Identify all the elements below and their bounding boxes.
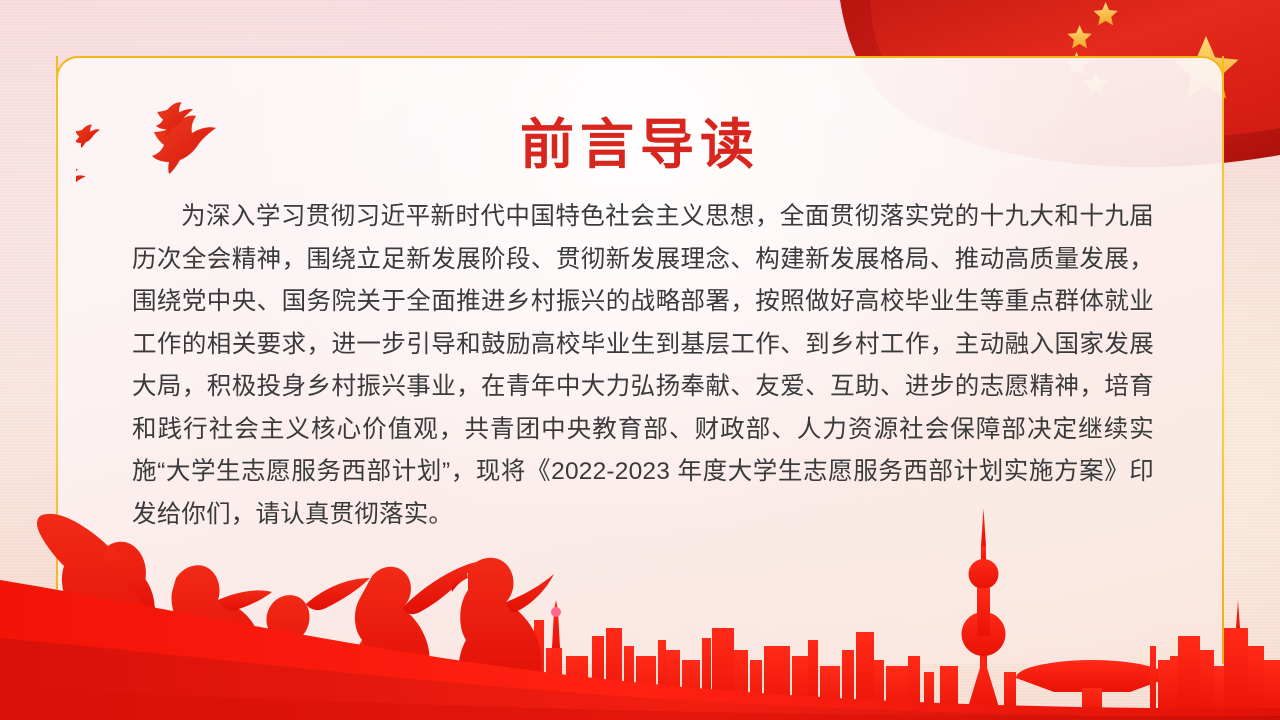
page-title: 前言导读: [0, 100, 1280, 179]
slide-root: 前言导读 为深入学习贯彻习近平新时代中国特色社会主义思想，全面贯彻落实党的十九大…: [0, 0, 1280, 720]
oriental-pearl-tower: [962, 508, 1006, 720]
bottom-illustration: [0, 460, 1280, 720]
